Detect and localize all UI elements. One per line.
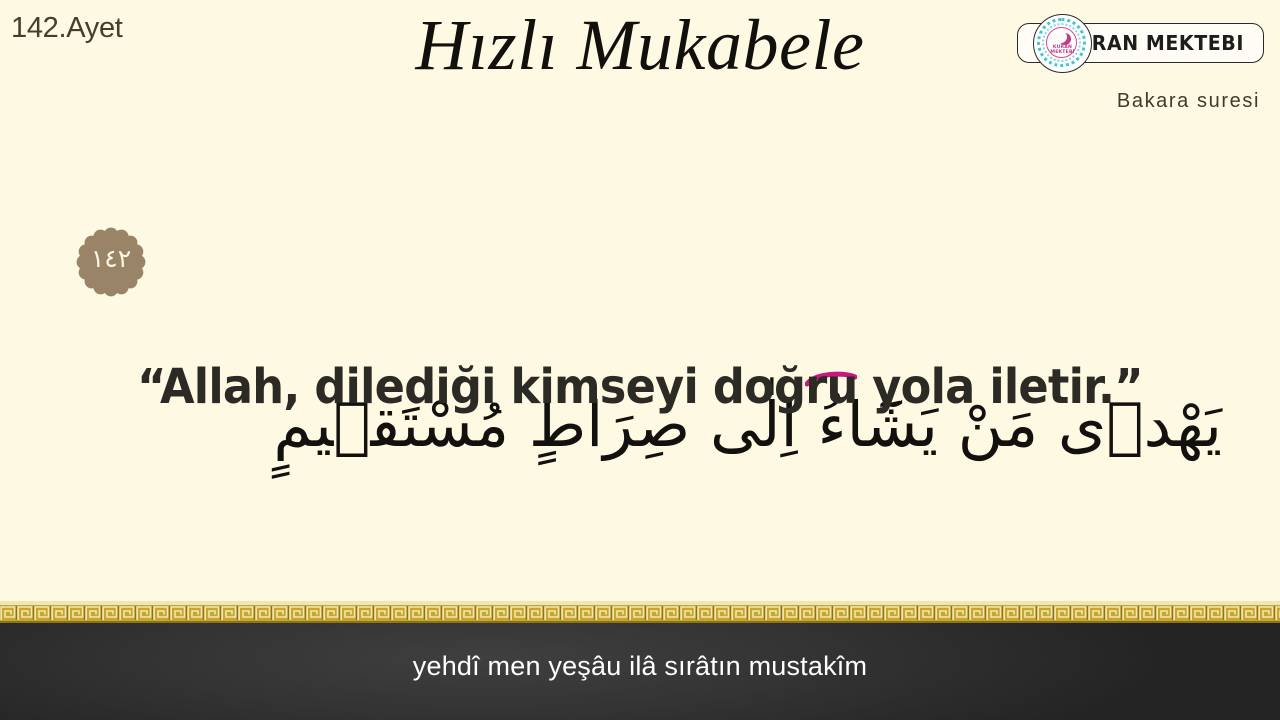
badge-text-label: KURANMEKTEBİ bbox=[1034, 45, 1091, 56]
greek-key-border bbox=[0, 603, 1280, 623]
surah-name-label: Bakara suresi bbox=[1117, 90, 1260, 113]
arabic-verse-row: يَهْدٖى مَنْ يَشَٓاءُ اِلٰى صِرَاطٍ مُسْ… bbox=[0, 175, 1280, 335]
video-frame: 142.Ayet Hızlı Mukabele KURAN MEKTEBI KU… bbox=[0, 0, 1280, 720]
crescent-moon-icon bbox=[1055, 31, 1067, 43]
brand-logo: KURAN MEKTEBI KURANMEKTEBİ Bakara suresi bbox=[1022, 10, 1272, 110]
turkish-meaning-text: “Allah, dilediği kimseyi doğru yola ilet… bbox=[45, 358, 1235, 416]
subtitle-bar: yehdî men yeşâu ilâ sırâtın mustakîm bbox=[0, 623, 1280, 720]
verse-content-area: 142.Ayet Hızlı Mukabele KURAN MEKTEBI KU… bbox=[0, 0, 1280, 603]
transliteration-subtitle: yehdî men yeşâu ilâ sırâtın mustakîm bbox=[0, 649, 1280, 683]
brand-badge-icon: KURANMEKTEBİ bbox=[1033, 14, 1092, 73]
